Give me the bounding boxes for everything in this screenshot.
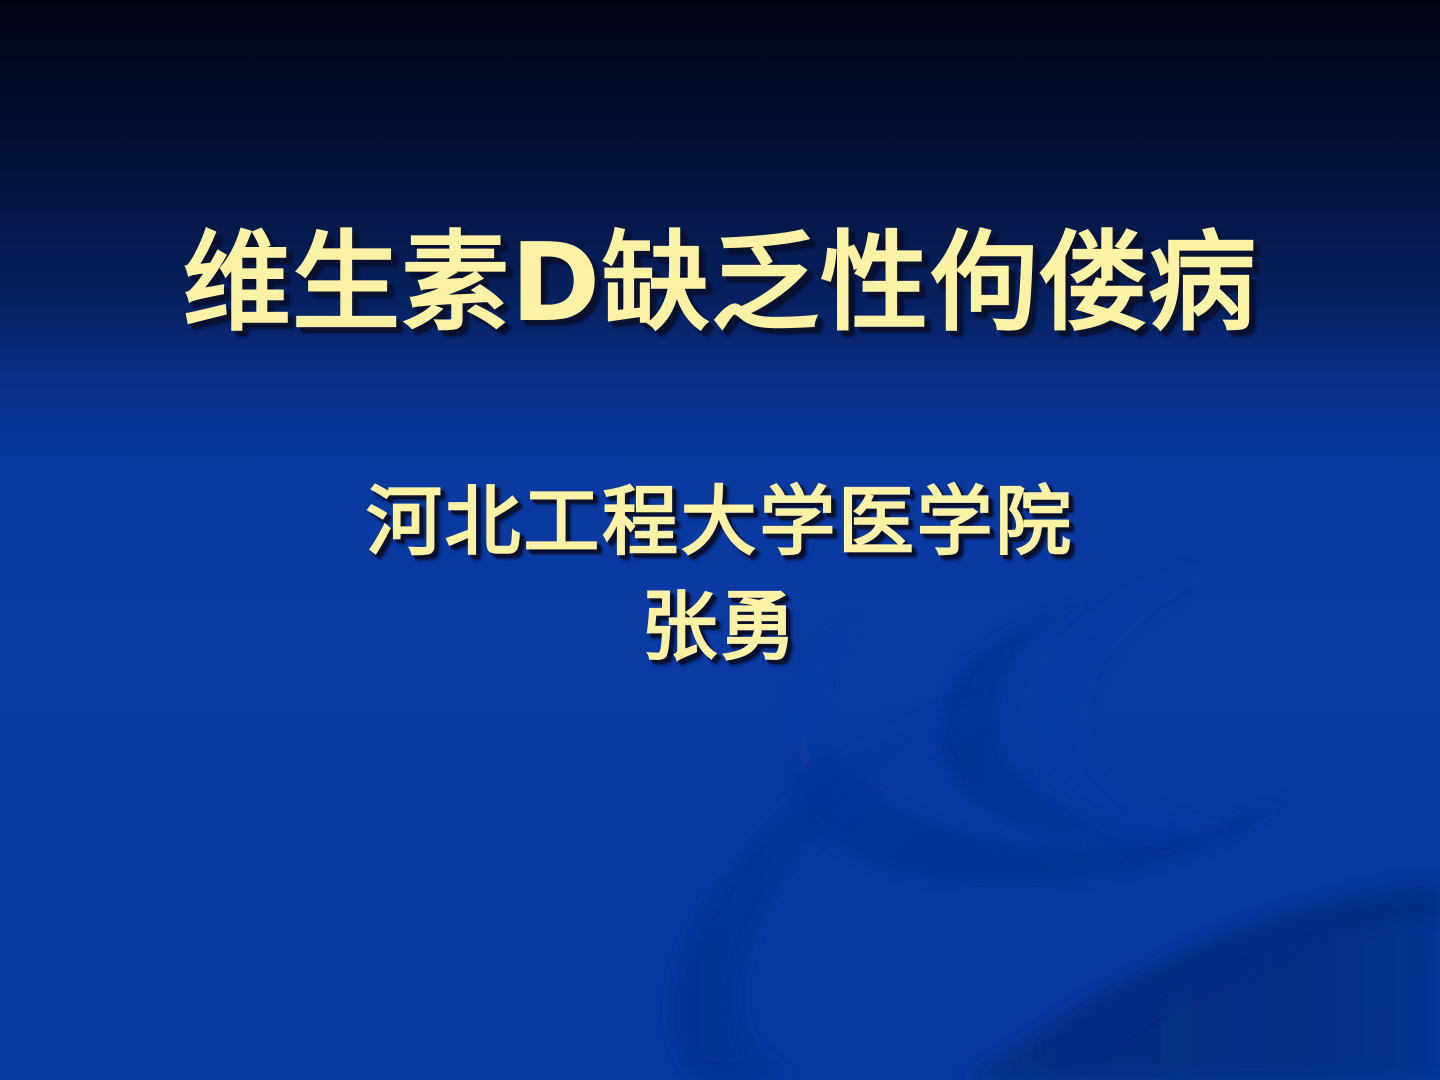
slide-title: 维生素D缺乏性佝偻病 — [0, 224, 1440, 345]
slide-subtitle: 河北工程大学医学院 张勇 — [0, 470, 1440, 680]
presentation-slide: 维生素D缺乏性佝偻病 河北工程大学医学院 张勇 — [0, 0, 1440, 1080]
subtitle-affiliation: 河北工程大学医学院 — [0, 470, 1440, 575]
slide-content: 维生素D缺乏性佝偻病 河北工程大学医学院 张勇 — [0, 0, 1440, 1080]
subtitle-author: 张勇 — [0, 575, 1440, 680]
